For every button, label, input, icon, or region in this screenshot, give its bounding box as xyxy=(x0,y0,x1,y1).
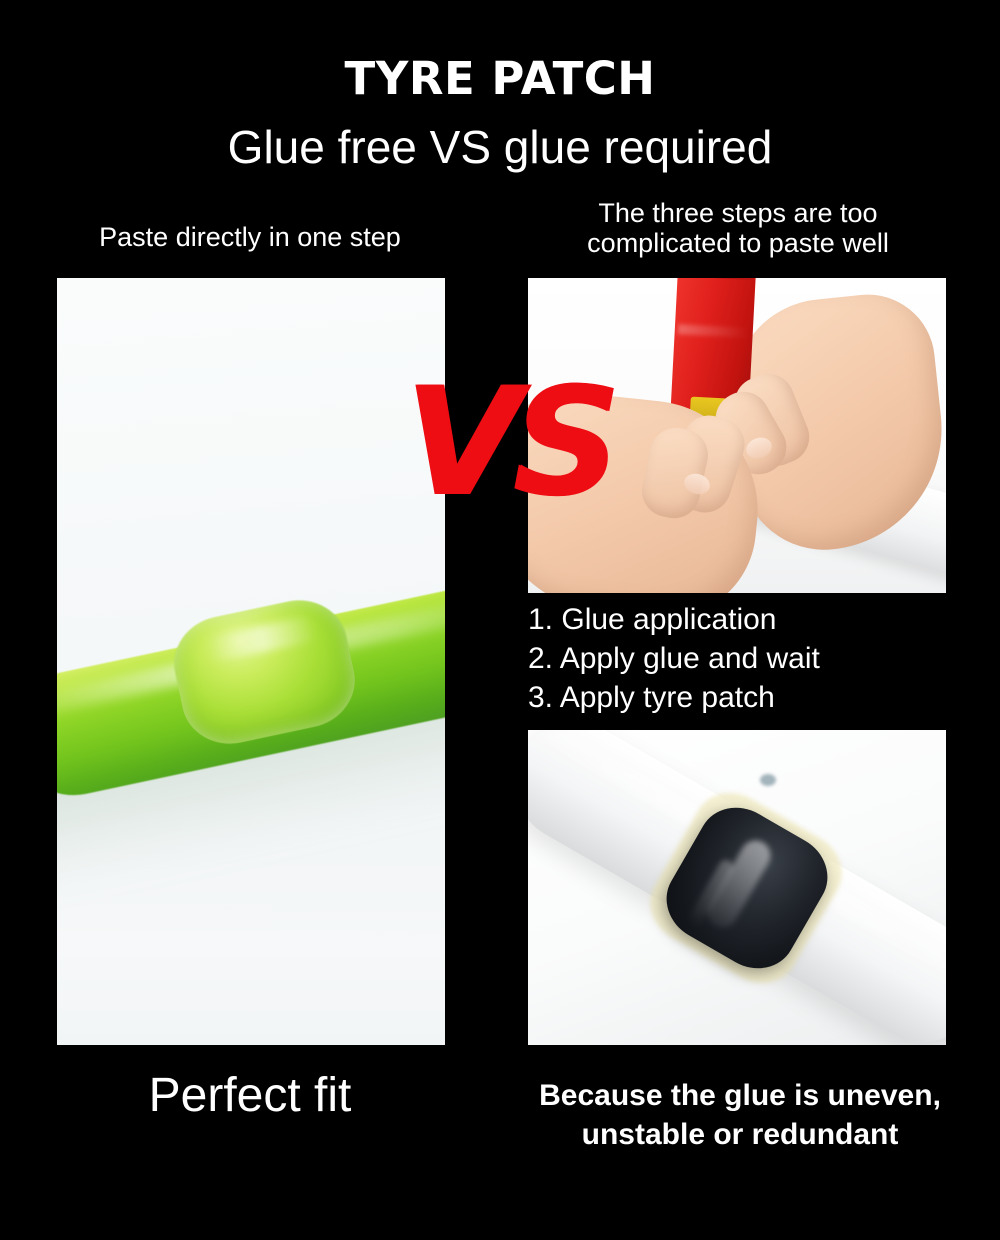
vs-badge: VS xyxy=(404,368,594,523)
photo-black-patch-result xyxy=(528,730,946,1045)
left-column-footer: Perfect fit xyxy=(40,1068,460,1123)
step-item-1: 1. Glue application xyxy=(528,600,948,639)
step-item-2: 2. Apply glue and wait xyxy=(528,639,948,678)
page-subtitle: Glue free VS glue required xyxy=(0,120,1000,174)
right-footer-line-1: Because the glue is uneven, xyxy=(528,1076,952,1115)
photo-green-tube-patch xyxy=(57,278,445,1045)
left-column-caption: Paste directly in one step xyxy=(40,222,460,253)
surface-speck xyxy=(760,774,776,786)
page-title: TYRE PATCH xyxy=(0,52,1000,105)
right-column-caption: The three steps are too complicated to p… xyxy=(528,198,948,258)
glue-steps-list: 1. Glue application 2. Apply glue and wa… xyxy=(528,600,948,717)
right-footer-line-2: unstable or redundant xyxy=(528,1115,952,1154)
right-caption-line-1: The three steps are too xyxy=(528,198,948,228)
step-item-3: 3. Apply tyre patch xyxy=(528,678,948,717)
infographic-canvas: TYRE PATCH Glue free VS glue required Pa… xyxy=(0,0,1000,1240)
right-caption-line-2: complicated to paste well xyxy=(528,228,948,258)
right-column-footer: Because the glue is uneven, unstable or … xyxy=(528,1076,952,1154)
